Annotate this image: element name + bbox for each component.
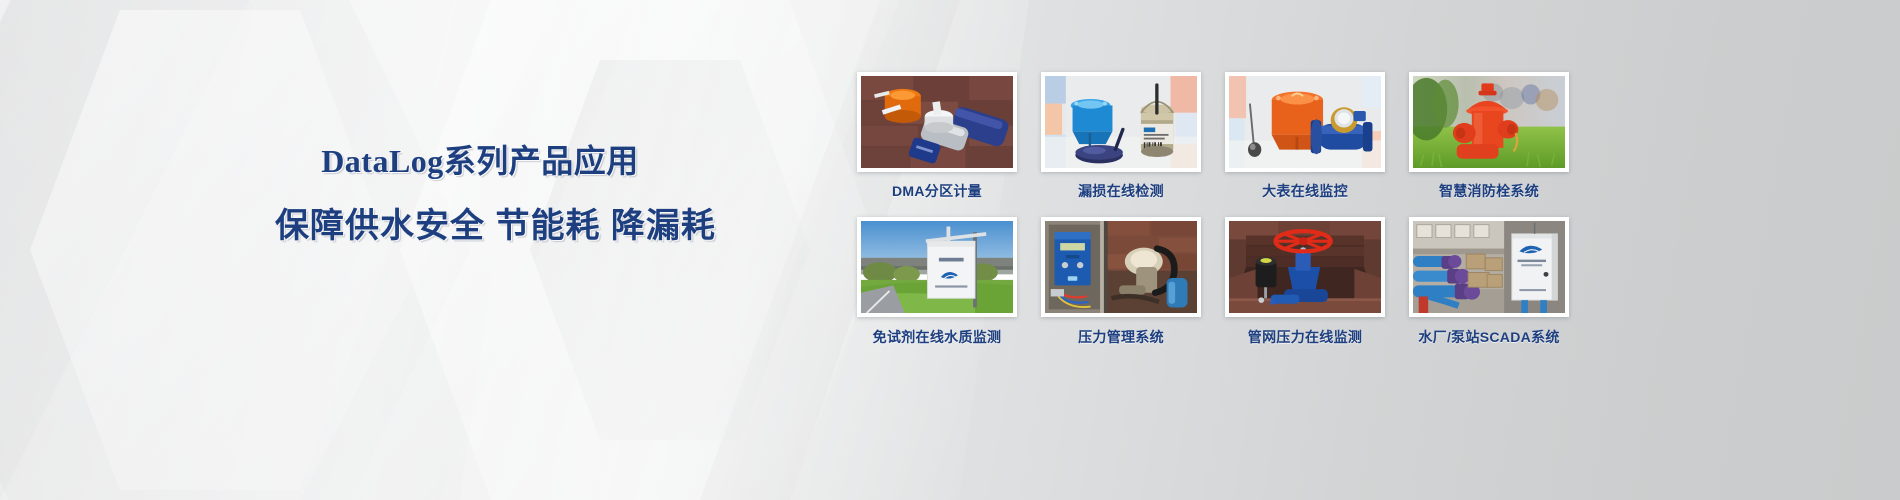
headline-line-1: DataLog系列产品应用 xyxy=(275,140,685,182)
gallery-card-label: 漏损在线检测 xyxy=(1078,181,1164,201)
thumb-frame xyxy=(1041,217,1201,317)
gallery-card-label: 免试剂在线水质监测 xyxy=(873,327,1002,347)
gallery-card-label: 大表在线监控 xyxy=(1262,181,1348,201)
gallery-card-label: 智慧消防栓系统 xyxy=(1439,181,1539,201)
headline-line-2: 保障供水安全 节能耗 降漏耗 xyxy=(275,204,685,248)
pipe-network-valve-photo xyxy=(1229,221,1381,313)
leak-detection-loggers-photo xyxy=(1045,76,1197,168)
thumb-frame xyxy=(1041,72,1201,172)
gallery-card-large-meter[interactable]: 大表在线监控 xyxy=(1225,72,1385,201)
gallery-card-label: 水厂/泵站SCADA系统 xyxy=(1418,327,1559,347)
thumb-frame xyxy=(857,72,1017,172)
large-meter-monitor-photo xyxy=(1229,76,1381,168)
gallery-card-scada[interactable]: 水厂/泵站SCADA系统 xyxy=(1409,217,1569,347)
gallery-card-label: DMA分区计量 xyxy=(892,181,982,201)
headline-block: DataLog系列产品应用 保障供水安全 节能耗 降漏耗 xyxy=(275,140,685,248)
gallery-card-label: 压力管理系统 xyxy=(1078,327,1164,347)
thumb-frame xyxy=(1225,217,1385,317)
pump-station-scada-photo xyxy=(1413,221,1565,313)
gallery-card-fire-hydrant[interactable]: 智慧消防栓系统 xyxy=(1409,72,1569,201)
water-quality-station-photo xyxy=(861,221,1013,313)
gallery-card-pipe-pressure[interactable]: 管网压力在线监测 xyxy=(1225,217,1385,347)
thumb-frame xyxy=(1409,72,1569,172)
smart-fire-hydrant-photo xyxy=(1413,76,1565,168)
thumb-frame xyxy=(857,217,1017,317)
product-gallery: DMA分区计量 xyxy=(857,72,1569,347)
gallery-card-dma-metering[interactable]: DMA分区计量 xyxy=(857,72,1017,201)
pressure-management-panel-photo xyxy=(1045,221,1197,313)
promo-banner: DataLog系列产品应用 保障供水安全 节能耗 降漏耗 xyxy=(0,0,1900,500)
gallery-card-leak-detection[interactable]: 漏损在线检测 xyxy=(1041,72,1201,201)
thumb-frame xyxy=(1409,217,1569,317)
gallery-card-pressure-management[interactable]: 压力管理系统 xyxy=(1041,217,1201,347)
gallery-card-water-quality[interactable]: 免试剂在线水质监测 xyxy=(857,217,1017,347)
dma-metering-chamber-photo xyxy=(861,76,1013,168)
gallery-card-label: 管网压力在线监测 xyxy=(1248,327,1362,347)
thumb-frame xyxy=(1225,72,1385,172)
